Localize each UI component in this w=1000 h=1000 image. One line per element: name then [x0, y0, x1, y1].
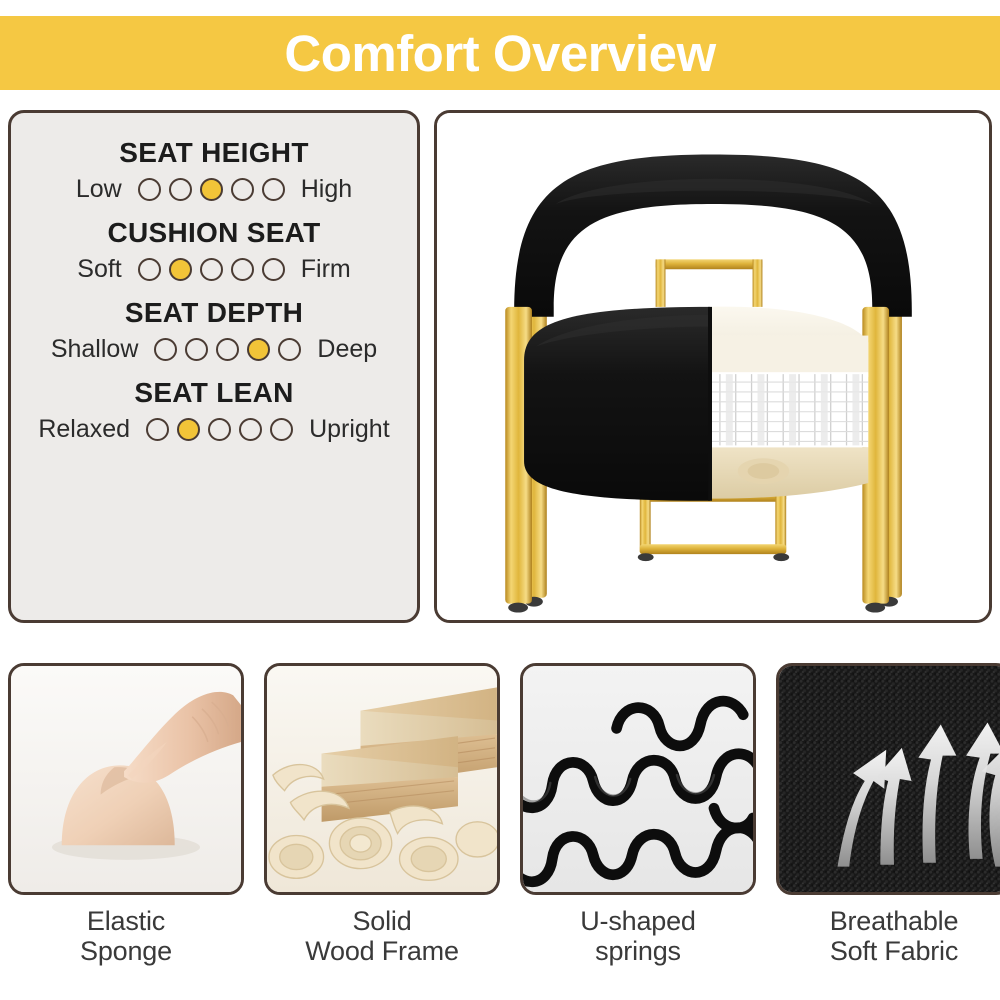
- rating-dot[interactable]: [138, 178, 161, 201]
- scale-low-label: Low: [76, 177, 122, 202]
- rating-dot[interactable]: [262, 258, 285, 281]
- rating-dot-selected[interactable]: [177, 418, 200, 441]
- chair-svg: [437, 113, 989, 620]
- feature-item: BreathableSoft Fabric: [776, 663, 1000, 966]
- rating-dot-selected[interactable]: [247, 338, 270, 361]
- spec-row: SEAT DEPTHShallowDeep: [11, 295, 417, 362]
- rating-dot[interactable]: [239, 418, 262, 441]
- feature-caption: ElasticSponge: [80, 906, 172, 966]
- feature-caption-line2: springs: [580, 936, 695, 966]
- rating-dot[interactable]: [185, 338, 208, 361]
- spec-scale: ShallowDeep: [51, 337, 377, 362]
- page-title: Comfort Overview: [284, 28, 715, 79]
- rating-dots: [154, 338, 301, 361]
- rating-dot-selected[interactable]: [200, 178, 223, 201]
- rating-dot[interactable]: [231, 178, 254, 201]
- spec-row: SEAT LEANRelaxedUpright: [11, 375, 417, 442]
- feature-caption-line2: Soft Fabric: [830, 936, 959, 966]
- header-banner: Comfort Overview: [0, 16, 1000, 90]
- feature-caption-line1: Elastic: [80, 906, 172, 936]
- rating-dots: [138, 178, 285, 201]
- feature-caption-line2: Wood Frame: [305, 936, 459, 966]
- spec-scale: LowHigh: [76, 177, 352, 202]
- serpentine-springs-icon: [523, 666, 753, 892]
- spec-title: SEAT LEAN: [134, 375, 293, 410]
- scale-low-label: Relaxed: [38, 417, 130, 442]
- rating-dot-selected[interactable]: [169, 258, 192, 281]
- scale-low-label: Soft: [77, 257, 121, 282]
- scale-high-label: Upright: [309, 417, 390, 442]
- feature-caption-line1: U-shaped: [580, 906, 695, 936]
- feature-thumbnail[interactable]: [520, 663, 756, 895]
- rating-dot[interactable]: [278, 338, 301, 361]
- rating-dot[interactable]: [208, 418, 231, 441]
- rating-dot[interactable]: [154, 338, 177, 361]
- rating-dot[interactable]: [200, 258, 223, 281]
- rating-dots: [138, 258, 285, 281]
- finger-pressing-foam-icon: [11, 666, 241, 892]
- spec-scale: SoftFirm: [77, 257, 350, 282]
- rating-dot[interactable]: [231, 258, 254, 281]
- spec-row: CUSHION SEATSoftFirm: [11, 215, 417, 282]
- rating-dot[interactable]: [262, 178, 285, 201]
- spec-title: CUSHION SEAT: [107, 215, 320, 250]
- scale-high-label: Deep: [317, 337, 377, 362]
- spec-scale: RelaxedUpright: [38, 417, 389, 442]
- feature-thumbnail[interactable]: [776, 663, 1000, 895]
- spec-title: SEAT DEPTH: [125, 295, 303, 330]
- feature-item: SolidWood Frame: [264, 663, 500, 966]
- feature-thumbnail-strip: ElasticSponge: [8, 663, 992, 966]
- feature-caption-line1: Breathable: [830, 906, 959, 936]
- rating-dot[interactable]: [270, 418, 293, 441]
- scale-low-label: Shallow: [51, 337, 139, 362]
- chair-image-panel: [434, 110, 992, 623]
- feature-item: ElasticSponge: [8, 663, 244, 966]
- rating-dot[interactable]: [146, 418, 169, 441]
- feature-item: U-shapedsprings: [520, 663, 756, 966]
- feature-thumbnail[interactable]: [8, 663, 244, 895]
- spec-title: SEAT HEIGHT: [119, 135, 308, 170]
- feature-thumbnail[interactable]: [264, 663, 500, 895]
- rating-dot[interactable]: [138, 258, 161, 281]
- spec-row: SEAT HEIGHTLowHigh: [11, 135, 417, 202]
- scale-high-label: High: [301, 177, 352, 202]
- comfort-spec-panel: SEAT HEIGHTLowHighCUSHION SEATSoftFirmSE…: [8, 110, 420, 623]
- feature-caption: BreathableSoft Fabric: [830, 906, 959, 966]
- feature-caption: SolidWood Frame: [305, 906, 459, 966]
- feature-caption-line2: Sponge: [80, 936, 172, 966]
- chair-illustration: [437, 113, 989, 620]
- spec-row-list: SEAT HEIGHTLowHighCUSHION SEATSoftFirmSE…: [11, 135, 417, 442]
- rating-dot[interactable]: [169, 178, 192, 201]
- feature-caption: U-shapedsprings: [580, 906, 695, 966]
- rating-dots: [146, 418, 293, 441]
- feature-caption-line1: Solid: [305, 906, 459, 936]
- breathable-fabric-arrows-icon: [779, 666, 1000, 892]
- rating-dot[interactable]: [216, 338, 239, 361]
- wood-beams-shavings-icon: [267, 666, 497, 892]
- comfort-overview-page: Comfort Overview SEAT HEIGHTLowHighCUSHI…: [0, 0, 1000, 1000]
- scale-high-label: Firm: [301, 257, 351, 282]
